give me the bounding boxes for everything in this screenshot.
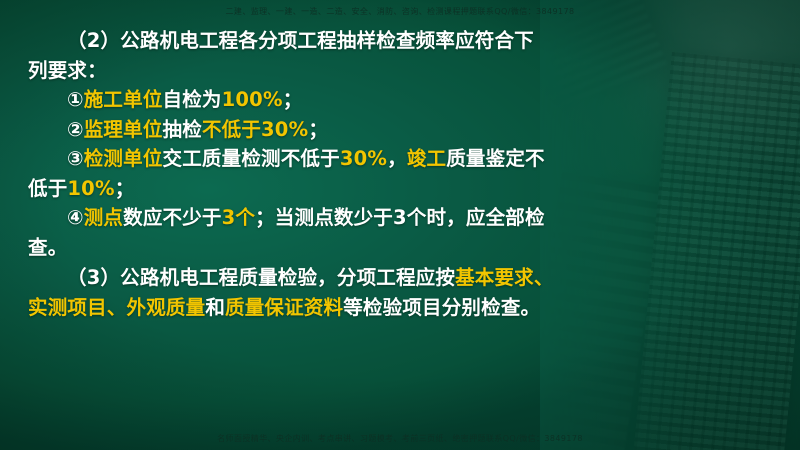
para3-line2-highlight-1: 实测项目、外观质量	[28, 296, 205, 319]
list-item-4-line-2: 查。	[28, 233, 770, 263]
item4-marker: ④	[67, 206, 84, 229]
list-item-3-line-2: 低于10%；	[28, 174, 770, 204]
list-item-2: ②监理单位抽检不低于30%；	[28, 115, 770, 145]
item4-plain-1: 数应不少于	[123, 206, 222, 229]
para3-line2-plain-2: 等检验项目分别检查。	[343, 296, 540, 319]
paragraph-2-line-1: （2）公路机电工程各分项工程抽样检查频率应符合下	[28, 26, 770, 56]
item3-highlight-3: 竣工	[407, 147, 446, 170]
para3-line1-plain-1: （3）公路机电工程质量检验，分项工程应按	[67, 266, 455, 289]
para3-line2-plain-1: 和	[205, 296, 225, 319]
para3-line1-plain-2: 、	[534, 266, 554, 289]
item3-line2-plain-2: ；	[115, 177, 135, 200]
watermark-top: 二建、监理、一建、一造、二造、安全、消防、咨询、检测课程押题联系QQ/微信：38…	[0, 6, 800, 17]
item1-marker: ①	[67, 88, 84, 111]
list-item-4-line-1: ④测点数应不少于3个；当测点数少于3个时，应全部检	[28, 203, 770, 233]
item1-highlight-2: 100%	[222, 88, 283, 111]
paragraph-3-line-1: （3）公路机电工程质量检验，分项工程应按基本要求、	[28, 263, 770, 293]
item2-highlight-2: 不低于30%	[202, 118, 308, 141]
item3-marker: ③	[67, 147, 84, 170]
item3-highlight-2: 30%	[340, 147, 387, 170]
item3-plain-2: ，	[387, 147, 407, 170]
item1-highlight-1: 施工单位	[84, 88, 163, 111]
list-item-3-line-1: ③检测单位交工质量检测不低于30%，竣工质量鉴定不	[28, 144, 770, 174]
slide-canvas: 二建、监理、一建、一造、二造、安全、消防、咨询、检测课程押题联系QQ/微信：38…	[0, 0, 800, 450]
para3-line2-highlight-2: 质量保证资料	[225, 296, 343, 319]
item4-highlight-1: 测点	[84, 206, 123, 229]
para2-line1-text: （2）公路机电工程各分项工程抽样检查频率应符合下	[67, 29, 534, 52]
item1-plain-2: ；	[283, 88, 303, 111]
para2-line2-text: 列要求：	[28, 59, 107, 82]
item2-highlight-1: 监理单位	[84, 118, 163, 141]
item2-plain-1: 抽检	[163, 118, 202, 141]
list-item-1: ①施工单位自检为100%；	[28, 85, 770, 115]
item4-plain-2: ；当测点数少于3个时，应全部检	[255, 206, 545, 229]
item3-line2-plain-1: 低于	[28, 177, 67, 200]
item3-highlight-1: 检测单位	[84, 147, 163, 170]
item3-line2-highlight-1: 10%	[67, 177, 114, 200]
paragraph-3-line-2: 实测项目、外观质量和质量保证资料等检验项目分别检查。	[28, 293, 770, 323]
paragraph-2-line-2: 列要求：	[28, 56, 770, 86]
para3-line1-highlight-1: 基本要求	[455, 266, 534, 289]
item1-plain-1: 自检为	[163, 88, 222, 111]
item2-marker: ②	[67, 118, 84, 141]
item4-highlight-2: 3个	[222, 206, 255, 229]
item3-plain-3: 质量鉴定不	[446, 147, 545, 170]
watermark-bottom: 名师面授精华、央企内训、考点串讲、习题模考、考前三页纸、绝密押题联系QQ/微信：…	[0, 433, 800, 444]
slide-content: （2）公路机电工程各分项工程抽样检查频率应符合下 列要求： ①施工单位自检为10…	[0, 0, 800, 322]
item3-plain-1: 交工质量检测不低于	[163, 147, 340, 170]
item2-plain-2: ；	[308, 118, 328, 141]
item4-line2-plain-1: 查。	[28, 236, 67, 259]
